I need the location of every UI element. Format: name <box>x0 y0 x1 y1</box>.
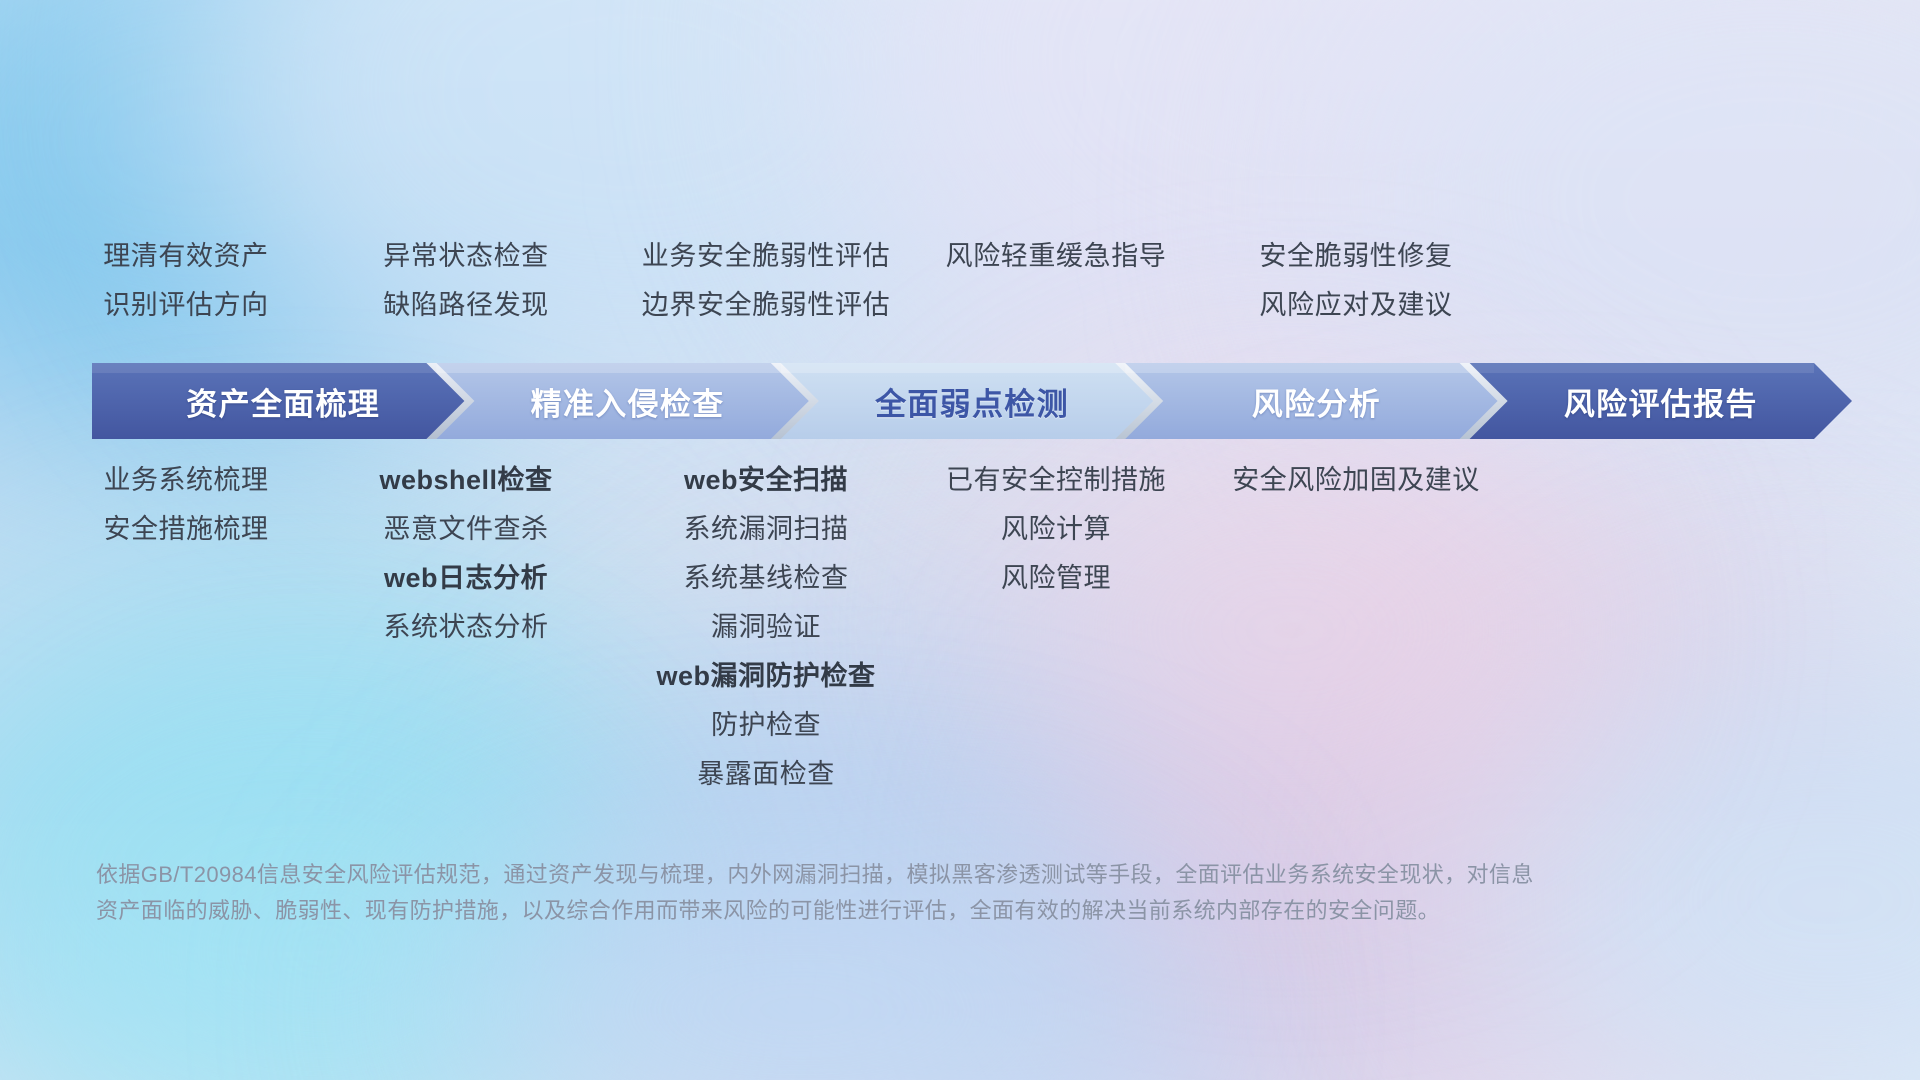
chevron-stage-2[interactable]: 精准入侵检查 <box>436 363 818 439</box>
pre-stage-label: 安全脆弱性修复 <box>1259 232 1452 281</box>
pre-stage-label: 识别评估方向 <box>103 281 269 330</box>
stage-detail-list: 已有安全控制措施风险计算风险管理 <box>906 456 1206 603</box>
stage-detail-item: 恶意文件查杀 <box>384 505 549 554</box>
pre-stage-label: 边界安全脆弱性评估 <box>642 281 890 330</box>
pre-stage-label: 业务安全脆弱性评估 <box>642 232 890 281</box>
stage-detail-item: web漏洞防护检查 <box>656 652 875 701</box>
stage-detail-item: 安全措施梳理 <box>104 505 269 554</box>
footer-description: 依据GB/T20984信息安全风险评估规范，通过资产发现与梳理，内外网漏洞扫描，… <box>96 857 1656 929</box>
stage-detail-item: webshell检查 <box>379 456 552 505</box>
stage-detail-item: web安全扫描 <box>684 456 848 505</box>
pre-stage-label-group: 业务安全脆弱性评估边界安全脆弱性评估 <box>616 232 916 330</box>
pre-stage-label: 异常状态检查 <box>383 232 549 281</box>
stage-detail-list: webshell检查恶意文件查杀web日志分析系统状态分析 <box>316 456 616 652</box>
pre-stage-label: 缺陷路径发现 <box>383 281 549 330</box>
stage-detail-item: 已有安全控制措施 <box>946 456 1166 505</box>
stage-detail-item: 风险管理 <box>1001 554 1111 603</box>
chevron-stage-label: 全面弱点检测 <box>781 379 1163 424</box>
chevron-stage-label: 资产全面梳理 <box>92 379 474 424</box>
chevron-stage-5[interactable]: 风险评估报告 <box>1470 363 1852 439</box>
pre-stage-label: 风险轻重缓急指导 <box>946 232 1167 281</box>
chevron-stage-4[interactable]: 风险分析 <box>1125 363 1507 439</box>
pre-stage-label-group: 理清有效资产识别评估方向 <box>36 232 336 330</box>
chevron-stage-band: 资产全面梳理精准入侵检查全面弱点检测风险分析风险评估报告 <box>92 363 1852 439</box>
stage-detail-item: 防护检查 <box>711 701 821 750</box>
process-diagram: 理清有效资产识别评估方向异常状态检查缺陷路径发现业务安全脆弱性评估边界安全脆弱性… <box>0 0 1920 1080</box>
pre-stage-label-group: 异常状态检查缺陷路径发现 <box>316 232 616 330</box>
pre-stage-label: 理清有效资产 <box>103 232 269 281</box>
stage-detail-item: 业务系统梳理 <box>104 456 269 505</box>
stage-detail-list: 安全风险加固及建议 <box>1206 456 1506 505</box>
chevron-stage-label: 风险分析 <box>1125 379 1507 424</box>
stage-detail-item: web日志分析 <box>384 554 548 603</box>
stage-detail-item: 系统漏洞扫描 <box>684 505 849 554</box>
stage-detail-item: 漏洞验证 <box>711 603 821 652</box>
chevron-stage-1[interactable]: 资产全面梳理 <box>92 363 474 439</box>
pre-stage-label-group: 安全脆弱性修复风险应对及建议 <box>1206 232 1506 330</box>
stage-detail-list: 业务系统梳理安全措施梳理 <box>36 456 336 554</box>
stage-detail-item: 暴露面检查 <box>697 750 835 799</box>
stage-detail-item: 系统基线检查 <box>684 554 849 603</box>
stage-detail-list: web安全扫描系统漏洞扫描系统基线检查漏洞验证web漏洞防护检查防护检查暴露面检… <box>616 456 916 799</box>
stage-detail-item: 风险计算 <box>1001 505 1111 554</box>
footer-line-2: 资产面临的威胁、脆弱性、现有防护措施，以及综合作用而带来风险的可能性进行评估，全… <box>96 893 1656 929</box>
chevron-stage-label: 精准入侵检查 <box>436 379 818 424</box>
footer-line-1: 依据GB/T20984信息安全风险评估规范，通过资产发现与梳理，内外网漏洞扫描，… <box>96 857 1656 893</box>
pre-stage-label-group: 风险轻重缓急指导 <box>906 232 1206 281</box>
chevron-stage-3[interactable]: 全面弱点检测 <box>781 363 1163 439</box>
stage-detail-item: 安全风险加固及建议 <box>1232 456 1480 505</box>
chevron-stage-label: 风险评估报告 <box>1470 379 1852 424</box>
stage-detail-item: 系统状态分析 <box>384 603 549 652</box>
pre-stage-label: 风险应对及建议 <box>1259 281 1452 330</box>
